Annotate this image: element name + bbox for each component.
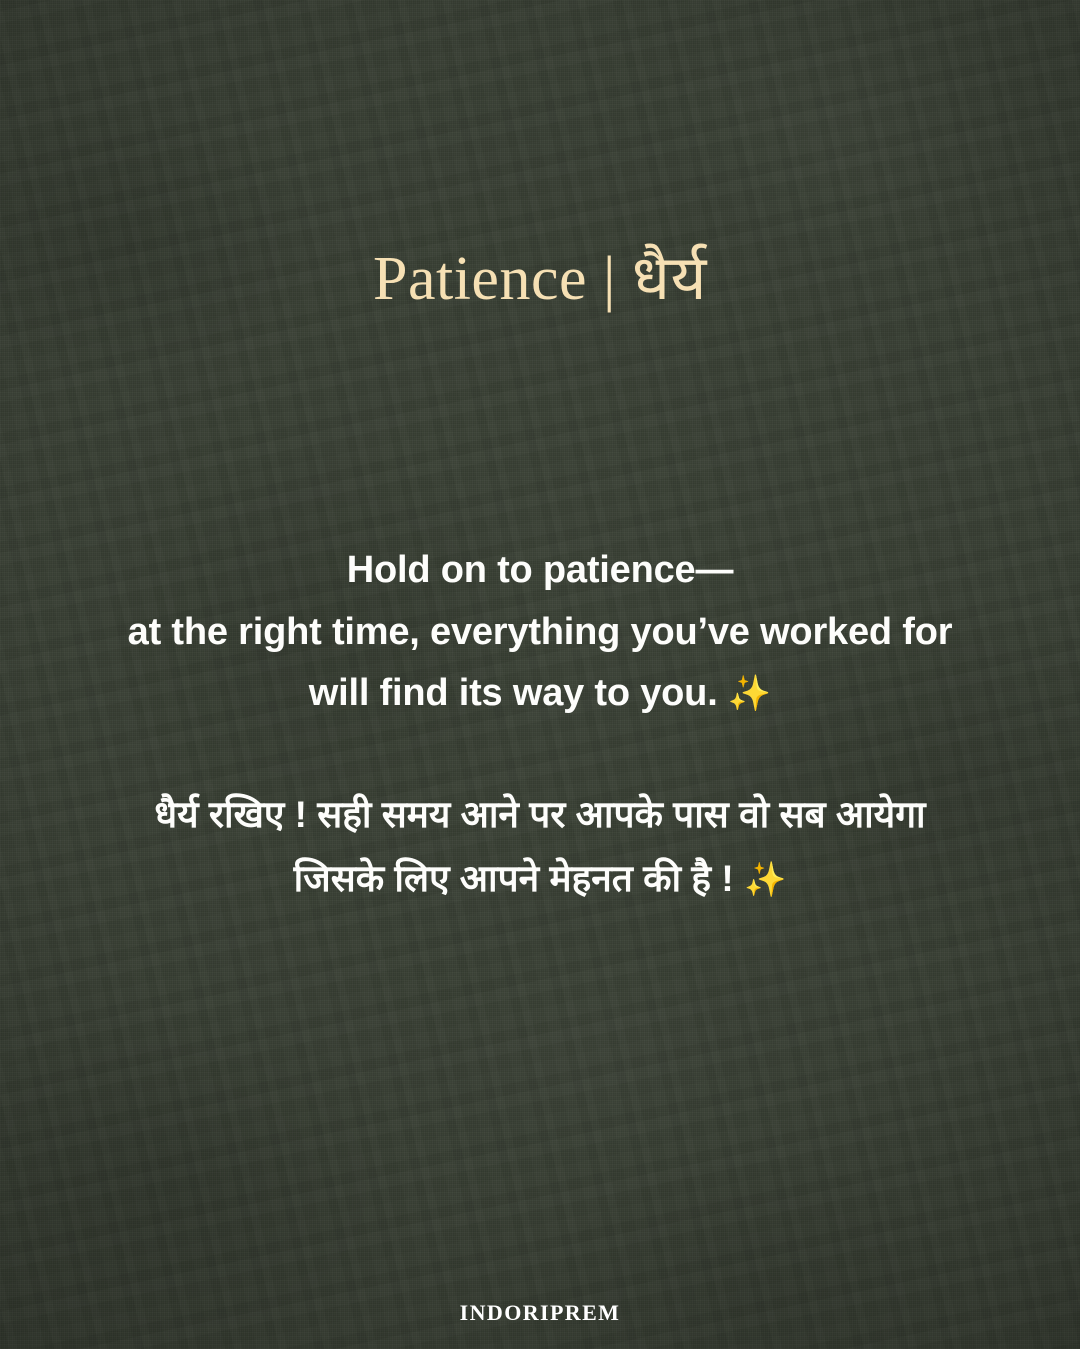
english-quote-block: Hold on to patience— at the right time, …: [60, 540, 1020, 725]
sparkles-icon: ✨: [744, 861, 786, 899]
watermark-brand: INDORIPREM: [0, 1300, 1080, 1326]
hindi-quote-line-1: धैर्य रखिए ! सही समय आने पर आपके पास वो …: [60, 783, 1020, 847]
english-quote-line-3: will find its way to you. ✨: [60, 663, 1020, 725]
hindi-quote-line-2: जिसके लिए आपने मेहनत की है ! ✨: [60, 847, 1020, 911]
english-quote-line-1: Hold on to patience—: [60, 540, 1020, 602]
english-quote-line-3-text: will find its way to you.: [309, 672, 728, 714]
page-title: Patience | धैर्य: [0, 245, 1080, 314]
hindi-quote-block: धैर्य रखिए ! सही समय आने पर आपके पास वो …: [60, 783, 1020, 910]
sparkles-icon: ✨: [728, 674, 771, 713]
poster-content: Patience | धैर्य Hold on to patience— at…: [0, 0, 1080, 1349]
english-quote-line-2: at the right time, everything you’ve wor…: [60, 602, 1020, 664]
hindi-quote-line-2-text: जिसके लिए आपने मेहनत की है !: [294, 858, 744, 899]
quote-poster: Patience | धैर्य Hold on to patience— at…: [0, 0, 1080, 1349]
